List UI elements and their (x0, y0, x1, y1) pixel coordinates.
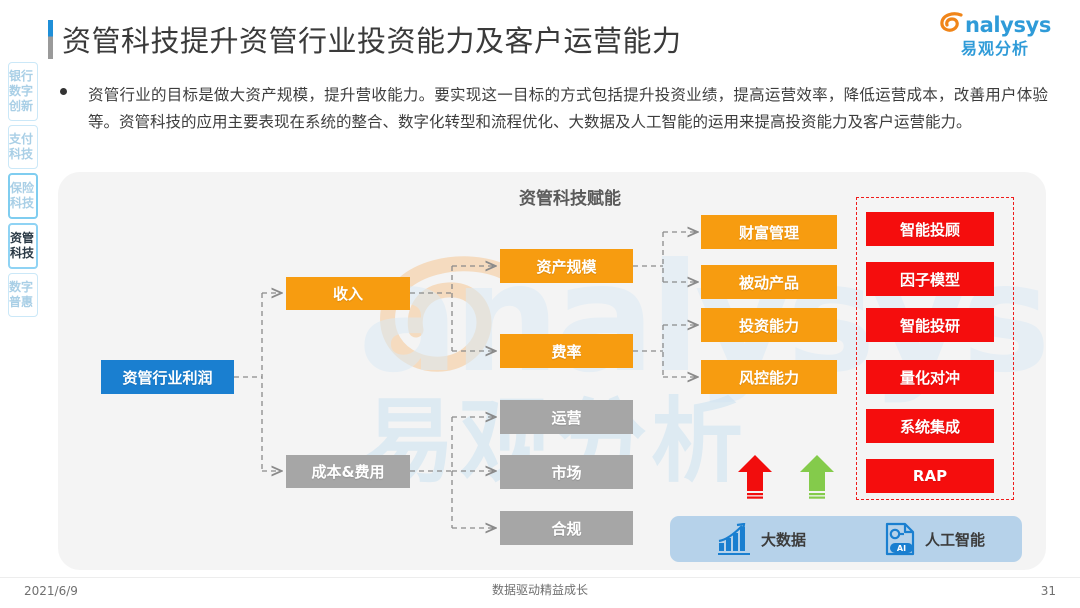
sidebar-item-label: 银行数字创新 (9, 69, 37, 114)
sidebar-item-label: 数字普惠 (9, 280, 37, 310)
footer-tagline: 数据驱动精益成长 (0, 581, 1080, 598)
sidebar-item-label: 资管科技 (10, 231, 36, 261)
analysys-logo: nalysys 易观分析 (930, 12, 1060, 62)
bar-chart-growth-icon (718, 523, 752, 555)
node-cost-expense[interactable]: 成本&费用 (286, 455, 410, 488)
node-rap[interactable]: RAP (866, 459, 994, 493)
sidebar-item-asset-management-tech[interactable]: 资管科技 (8, 223, 38, 269)
logo-swirl-icon (939, 11, 965, 39)
node-compliance[interactable]: 合规 (500, 511, 633, 545)
section-sidebar[interactable]: 银行数字创新 支付科技 保险科技 资管科技 数字普惠 (8, 62, 40, 321)
diagram-title: 资管科技赋能 (470, 184, 670, 209)
footer-page-number: 31 (1041, 584, 1056, 598)
capability-big-data[interactable]: 大数据 (718, 523, 806, 555)
sidebar-item-digital-inclusive-finance[interactable]: 数字普惠 (8, 273, 38, 317)
node-asset-scale[interactable]: 资产规模 (500, 249, 633, 283)
sidebar-item-label: 保险科技 (10, 181, 36, 211)
node-fee-rate[interactable]: 费率 (500, 334, 633, 368)
title-accent-bar (48, 20, 53, 59)
node-industry-profit[interactable]: 资管行业利润 (101, 360, 234, 394)
node-quant-hedging[interactable]: 量化对冲 (866, 360, 994, 394)
capability-bar: 大数据 AI 人工智能 (670, 516, 1022, 562)
logo-chinese-name: 易观分析 (930, 39, 1060, 59)
node-passive-products[interactable]: 被动产品 (701, 265, 837, 299)
node-market[interactable]: 市场 (500, 455, 633, 489)
node-system-integration[interactable]: 系统集成 (866, 409, 994, 443)
capability-ai[interactable]: AI 人工智能 (884, 522, 985, 556)
node-wealth-management[interactable]: 财富管理 (701, 215, 837, 249)
footer-divider (0, 577, 1080, 578)
bullet-point-icon (60, 88, 67, 95)
node-risk-control-capability[interactable]: 风控能力 (701, 360, 837, 394)
sidebar-item-bank-digital-innovation[interactable]: 银行数字创新 (8, 62, 38, 121)
logo-wordmark: nalysys (965, 15, 1051, 36)
sidebar-item-insurance-tech[interactable]: 保险科技 (8, 173, 38, 219)
svg-text:AI: AI (897, 544, 906, 553)
node-smart-research[interactable]: 智能投研 (866, 308, 994, 342)
ai-document-icon: AI (884, 522, 916, 556)
capability-label: 人工智能 (925, 529, 985, 550)
intro-paragraph: 资管行业的目标是做大资产规模，提升营收能力。要实现这一目标的方式包括提升投资业绩… (88, 82, 1048, 136)
node-factor-model[interactable]: 因子模型 (866, 262, 994, 296)
node-robo-advisor[interactable]: 智能投顾 (866, 212, 994, 246)
node-revenue[interactable]: 收入 (286, 277, 410, 310)
sidebar-item-label: 支付科技 (9, 132, 37, 162)
sidebar-item-payment-tech[interactable]: 支付科技 (8, 125, 38, 169)
page-title: 资管科技提升资管行业投资能力及客户运营能力 (62, 20, 842, 62)
node-operations[interactable]: 运营 (500, 400, 633, 434)
node-investment-capability[interactable]: 投资能力 (701, 308, 837, 342)
capability-label: 大数据 (761, 529, 806, 550)
